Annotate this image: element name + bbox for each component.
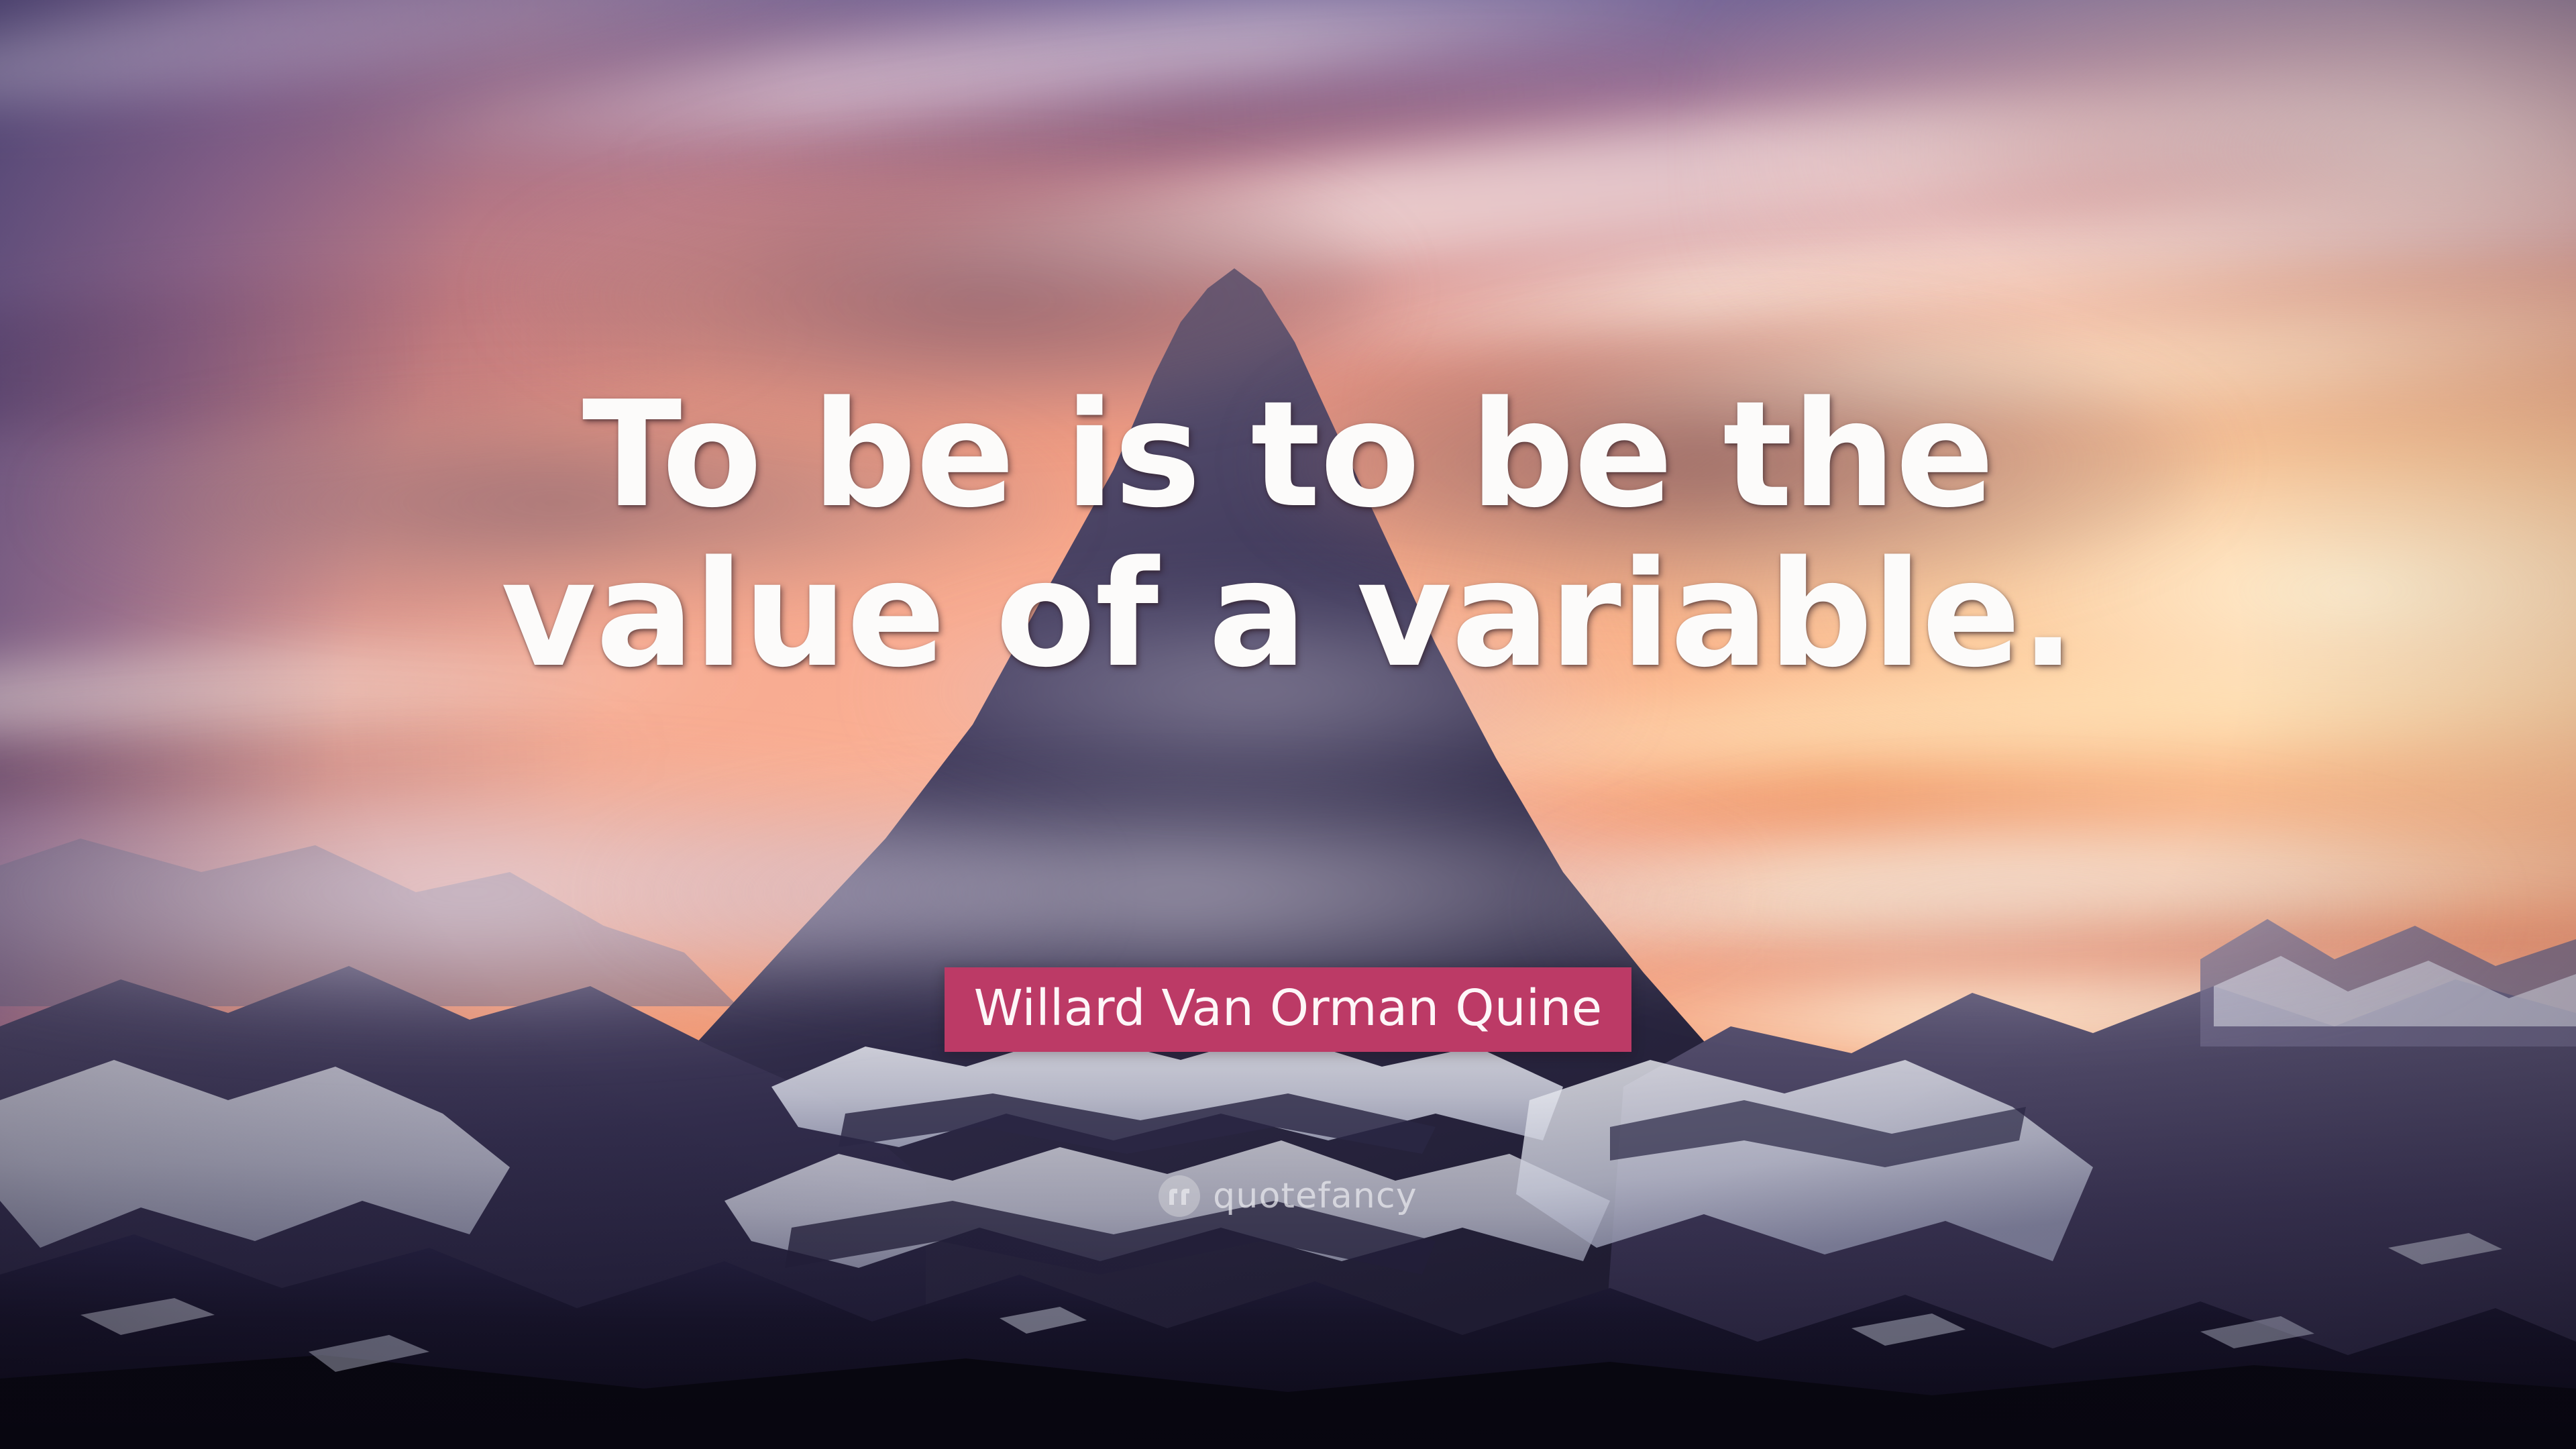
quote-text: To be is to be the value of a variable. [0, 376, 2576, 695]
quote-line-1: To be is to be the [201, 376, 2375, 535]
quotefancy-watermark[interactable]: quotefancy [0, 1175, 2576, 1217]
quote-mark-icon [1159, 1175, 1200, 1217]
watermark-brand-label: quotefancy [1213, 1177, 1417, 1215]
author-name: Willard Van Orman Quine [945, 967, 1632, 1052]
mountain-range [0, 0, 2576, 1449]
attribution-banner: Willard Van Orman Quine [0, 967, 2576, 1052]
quote-poster: To be is to be the value of a variable. … [0, 0, 2576, 1449]
quote-line-2: value of a variable. [201, 535, 2375, 695]
